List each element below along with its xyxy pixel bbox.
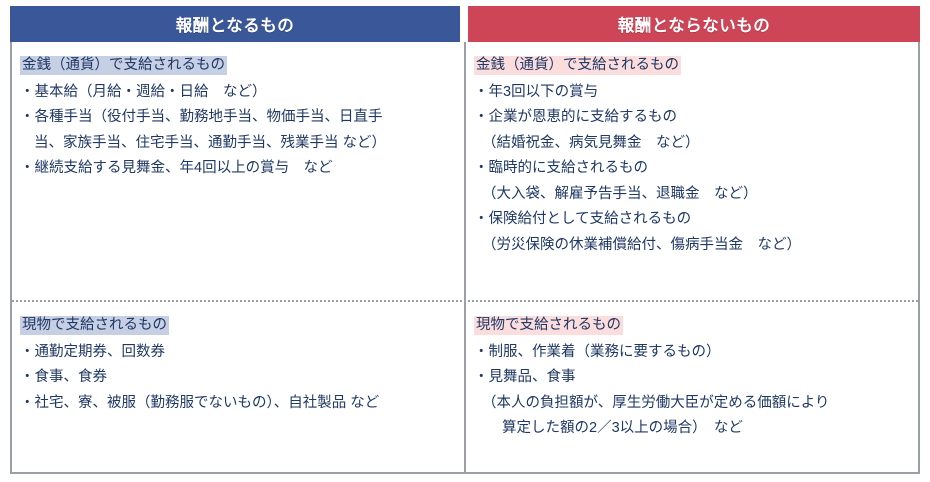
list-item-continuation: （結婚祝金、病気見舞金 など）	[474, 131, 910, 157]
list-item: ・年3回以下の賞与	[474, 80, 910, 106]
list-item: ・継続支給する見舞金、年4回以上の賞与 など	[20, 156, 456, 182]
list-item-continuation: 算定した額の2／3以上の場合） など	[474, 416, 910, 442]
list-item: ・見舞品、食事	[474, 365, 910, 391]
cell-inkind-remuneration: 現物で支給されるもの ・通勤定期券、回数券 ・食事、食券 ・社宅、寮、被服（勤務…	[12, 302, 464, 472]
list-item: ・制服、作業着（業務に要するもの）	[474, 340, 910, 366]
comparison-table: 報酬となるもの 報酬とならないもの 金銭（通貨）で支給されるもの ・基本給（月給…	[0, 0, 930, 482]
header-cell-non-remuneration: 報酬とならないもの	[468, 6, 920, 42]
list-item: ・臨時的に支給されるもの	[474, 156, 910, 182]
header-cell-remuneration: 報酬となるもの	[10, 6, 460, 42]
list-item: ・保険給付として支給されるもの	[474, 207, 910, 233]
list-item: ・社宅、寮、被服（勤務服でないもの）、自社製品 など	[20, 391, 456, 417]
list-item: ・基本給（月給・週給・日給 など）	[20, 80, 456, 106]
subheading-inkind-non-remuneration: 現物で支給されるもの	[474, 316, 623, 335]
subheading-row: 現物で支給されるもの	[20, 313, 456, 339]
list-item-continuation: （大入袋、解雇予告手当、退職金 など）	[474, 182, 910, 208]
list-item-continuation: 当、家族手当、住宅手当、通勤手当、残業手当 など）	[20, 131, 456, 157]
list-item: ・各種手当（役付手当、勤務地手当、物価手当、日直手	[20, 105, 456, 131]
table-header-row: 報酬となるもの 報酬とならないもの	[0, 0, 930, 42]
cell-cash-non-remuneration: 金銭（通貨）で支給されるもの ・年3回以下の賞与 ・企業が恩恵的に支給するもの …	[466, 42, 918, 300]
table-body: 金銭（通貨）で支給されるもの ・基本給（月給・週給・日給 など） ・各種手当（役…	[10, 42, 920, 474]
subheading-cash-non-remuneration: 金銭（通貨）で支給されるもの	[474, 56, 681, 75]
subheading-row: 金銭（通貨）で支給されるもの	[474, 53, 910, 79]
list-item: ・企業が恩恵的に支給するもの	[474, 105, 910, 131]
subheading-row: 金銭（通貨）で支給されるもの	[20, 53, 456, 79]
cell-inkind-non-remuneration: 現物で支給されるもの ・制服、作業着（業務に要するもの） ・見舞品、食事 （本人…	[466, 302, 918, 472]
list-item: ・通勤定期券、回数券	[20, 340, 456, 366]
list-item-continuation: （労災保険の休業補償給付、傷病手当金 など）	[474, 233, 910, 259]
subheading-cash-remuneration: 金銭（通貨）で支給されるもの	[20, 56, 227, 75]
cell-cash-remuneration: 金銭（通貨）で支給されるもの ・基本給（月給・週給・日給 など） ・各種手当（役…	[12, 42, 464, 300]
list-item: ・食事、食券	[20, 365, 456, 391]
subheading-inkind-remuneration: 現物で支給されるもの	[20, 316, 169, 335]
subheading-row: 現物で支給されるもの	[474, 313, 910, 339]
list-item-continuation: （本人の負担額が、厚生労働大臣が定める価額により	[474, 391, 910, 417]
